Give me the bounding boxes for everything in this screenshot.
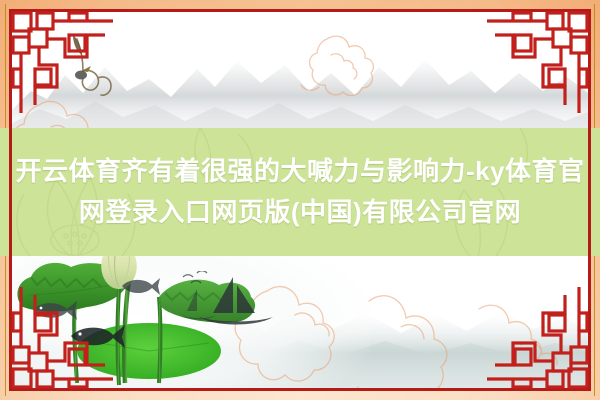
- border-rule-top: [9, 9, 591, 12]
- title-band: 开云体育齐有着很强的大喊力与影响力-ky体育官 网登录入口网页版(中国)有限公司…: [0, 128, 600, 256]
- banner-image: 开云体育齐有着很强的大喊力与影响力-ky体育官 网登录入口网页版(中国)有限公司…: [0, 0, 600, 400]
- ink-wash-fish-icon: [65, 319, 127, 353]
- title-line-2: 网登录入口网页版(中国)有限公司官网: [79, 194, 521, 231]
- border-rule-left: [9, 9, 12, 391]
- ink-bird-on-branch-icon: [57, 31, 131, 111]
- title-line-1: 开云体育齐有着很强的大喊力与影响力-ky体育官: [15, 153, 584, 190]
- border-rule-bottom: [9, 388, 591, 391]
- ink-wash-fish-icon: [117, 273, 161, 299]
- page-title: 开云体育齐有着很强的大喊力与影响力-ky体育官 网登录入口网页版(中国)有限公司…: [0, 128, 600, 256]
- ink-wash-sailboats-icon: [177, 271, 287, 333]
- border-rule-right: [588, 9, 591, 391]
